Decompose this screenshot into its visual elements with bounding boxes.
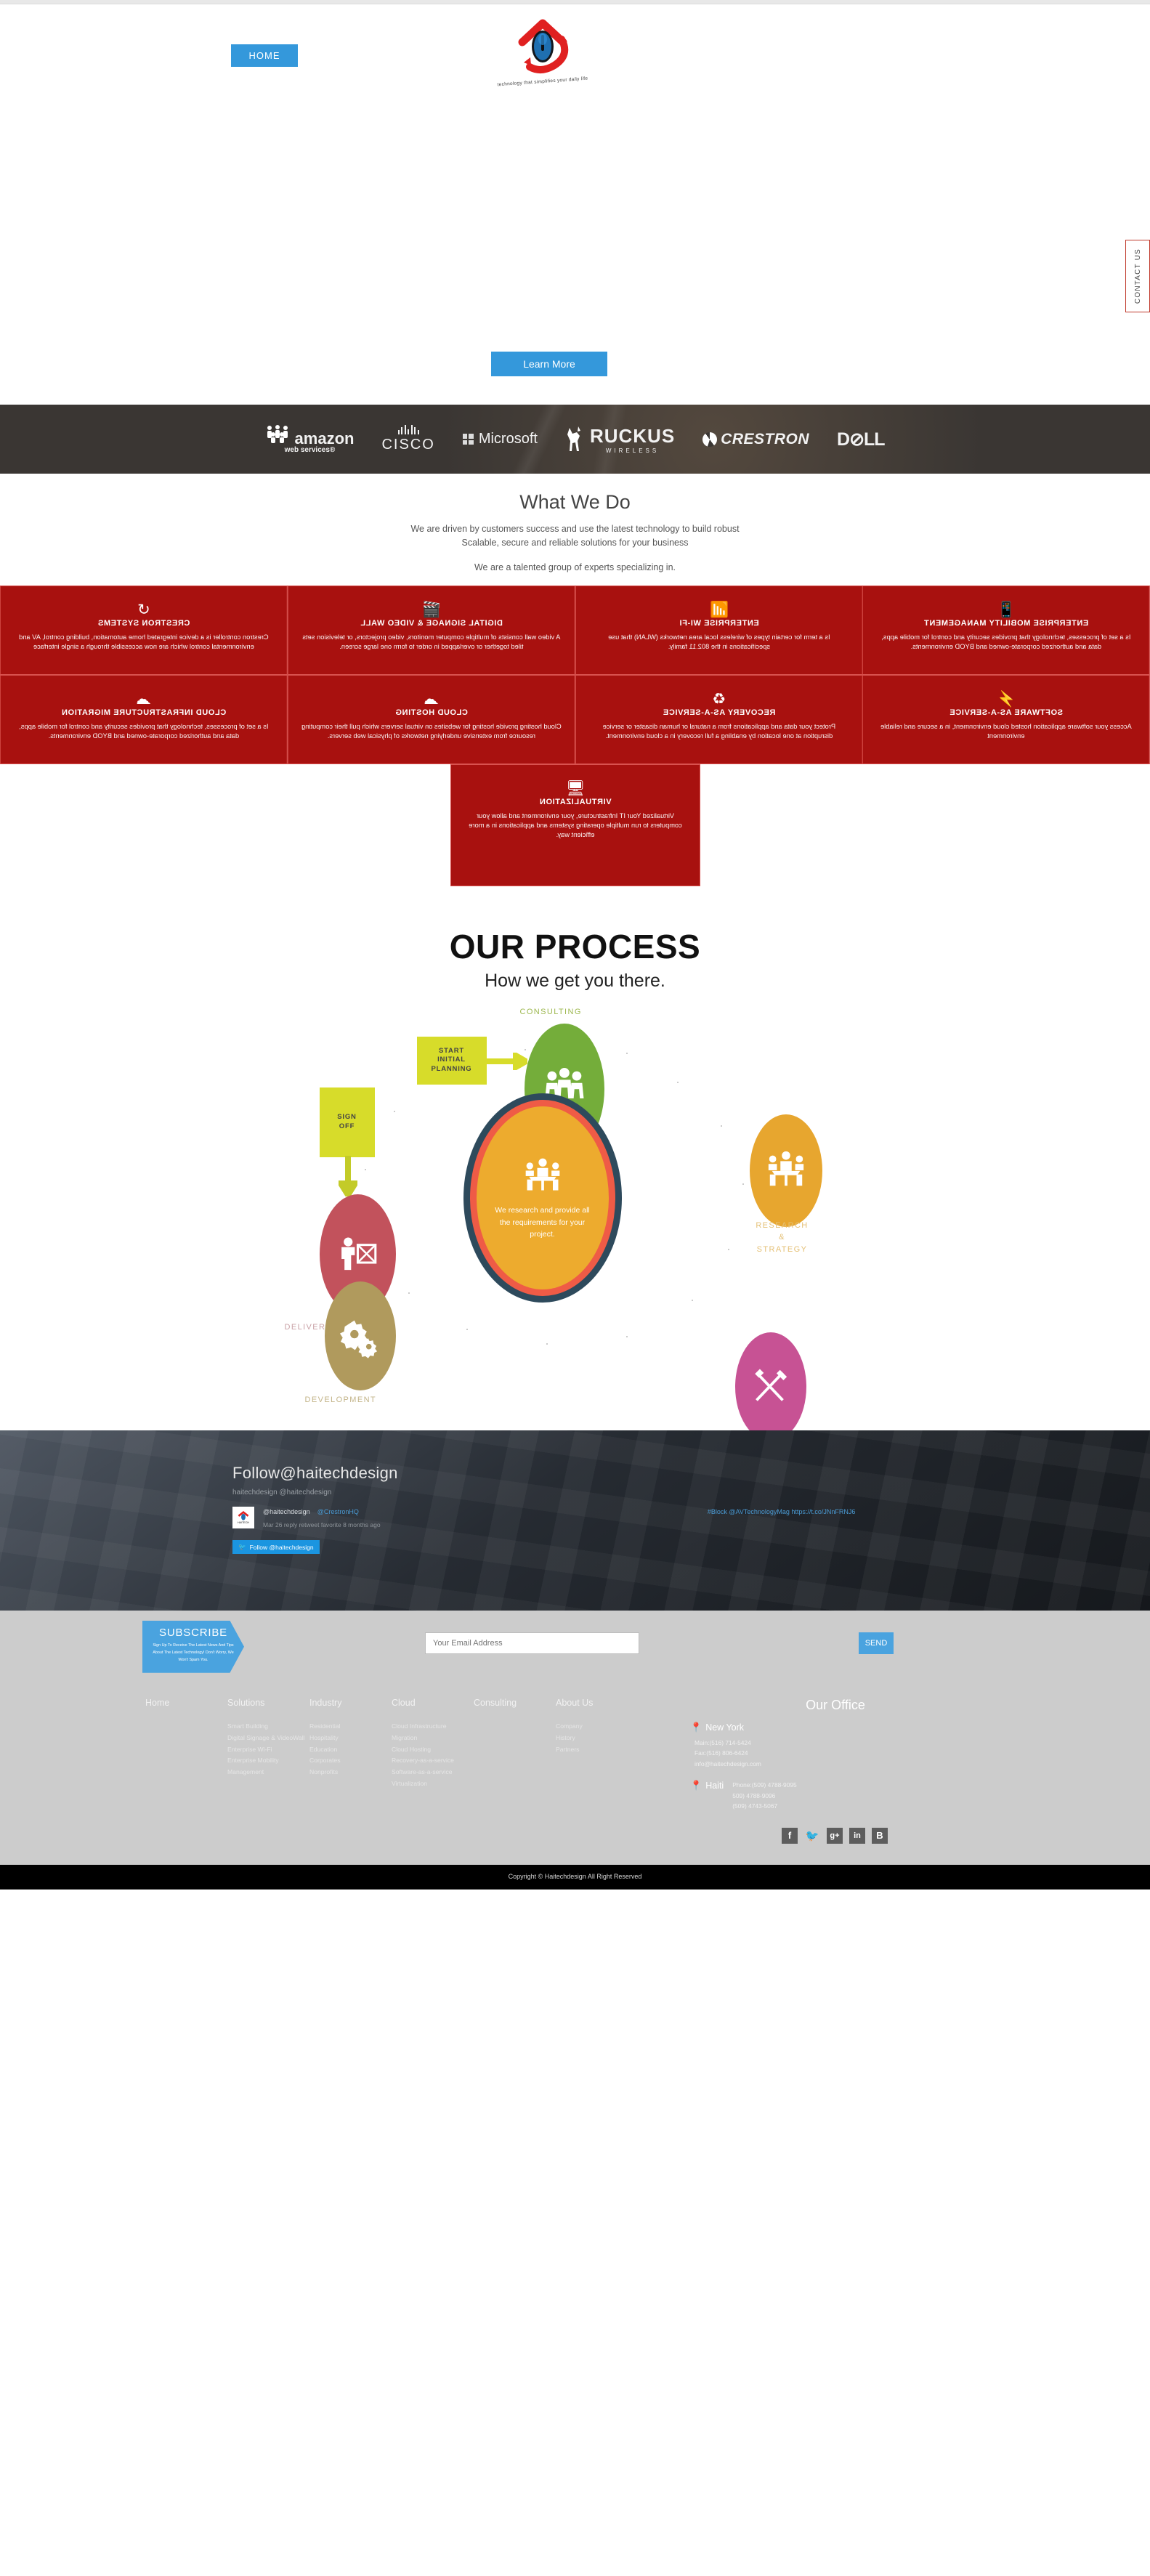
office-newyork: 📍 New York [690,1722,981,1733]
footer-link[interactable]: Hospitality [309,1733,392,1744]
ruckus-sub: WIRELESS [590,447,675,454]
footer-link[interactable]: Company [556,1721,638,1733]
map-pin-icon: 📍 [690,1722,702,1733]
footer-link[interactable]: Digital Signage & VideoWall [227,1733,309,1744]
footer-column-cloud: Cloud Cloud Infrastructure Migration Clo… [392,1698,474,1790]
service-desc: Virtualized Your IT Infrastructure, your… [463,811,688,841]
office-haiti: 📍 Haiti Phone:(509) 4788-9095 509) 4788-… [690,1780,981,1812]
services-row-3: 🖥 VIRTUALIZATION Virtualized Your IT Inf… [0,764,1150,886]
service-desc: Crestron controller is a device integrat… [12,633,275,652]
what-we-do-line2: Scalable, secure and reliable solutions … [0,536,1150,550]
process-subtitle: How we get you there. [0,971,1150,992]
service-title: ENTERPRISE MOBILITY MANAGEMENT [875,619,1138,629]
nav-home-button[interactable]: HOME [231,44,298,67]
cisco-name: CISCO [381,437,434,453]
tweet-item: HAITECH @haitechdesign @CrestronHQ #Bloc… [232,1507,1150,1531]
contact-us-label: CONTACT US [1134,248,1142,304]
partner-logo-crestron: CRESTRON [702,431,809,448]
learn-more-button[interactable]: Learn More [491,352,607,376]
learn-more-label: Learn More [523,358,575,370]
service-card-software-as-a-service[interactable]: ⚡ SOFTWARE AS-A-SERVICE Access your soft… [862,675,1150,764]
service-card-recovery-as-a-service[interactable]: ♻ RECOVERY AS-A-SERVICE Protect your dat… [575,675,863,764]
service-desc: Is a set of processes, technology that p… [12,722,275,741]
cisco-bars-icon [381,425,434,434]
facebook-icon[interactable]: f [782,1828,798,1844]
service-desc: Access your software application hosted … [875,722,1138,741]
footer-link[interactable]: Residential [309,1721,392,1733]
footer-link[interactable]: Enterprise Wi-Fi [227,1744,309,1756]
subscribe-banner: SUBSCRIBE Sign Up To Receive The Latest … [142,1621,244,1673]
footer-heading-about-us[interactable]: About Us [556,1698,638,1708]
partner-logo-cisco: CISCO [381,425,434,453]
tweet-mention[interactable]: @CrestronHQ [317,1508,359,1515]
partner-logo-dell: D⊘LL [837,429,885,450]
what-we-do-title: What We Do [0,491,1150,514]
arrow-to-delivery-icon [339,1156,357,1196]
refresh-icon: ↺ [12,602,275,617]
service-card-virtualization[interactable]: 🖥 VIRTUALIZATION Virtualized Your IT Inf… [450,764,700,886]
service-desc: Protect your data and applications from … [588,722,851,741]
wifi-icon: 📶 [588,602,851,617]
logo-tagline: technology that simplifies your daily li… [488,76,597,88]
tweet-link[interactable]: #Block @AVTechnologyMag https://t.co/JNn… [708,1507,856,1518]
cloud-upload-icon: ☁ [300,692,563,707]
footer-column-home: Home [145,1698,227,1790]
process-label-development: DEVELOPMENT [305,1394,377,1406]
service-title: CLOUD INFRASTRUCTURE MIGRATION [12,708,275,718]
service-desc: Cloud hosting provide hosting for websit… [300,722,563,741]
office-main-phone[interactable]: Main:(516) 714-5424 [695,1738,981,1749]
footer-column-solutions: Solutions Smart Building Digital Signage… [227,1698,309,1790]
arrow-to-consulting-icon [487,1053,527,1070]
office-phone-3[interactable]: (509) 4743-5067 [732,1801,796,1812]
office-phone-1[interactable]: Phone:(509) 4788-9095 [732,1780,796,1791]
footer-heading-solutions[interactable]: Solutions [227,1698,309,1708]
partner-logo-microsoft: Microsoft [463,431,538,447]
our-office-heading: Our Office [690,1698,981,1713]
service-card-enterprise-mobility[interactable]: 📱 ENTERPRISE MOBILITY MANAGEMENT Is a se… [862,586,1150,675]
process-label-consulting: CONSULTING [520,1006,582,1018]
process-diagram: CONSULTING START INITIAL PLANNING SIGN O… [285,1002,866,1380]
partners-bar: amazon web services® CISCO Microsoft Ruc… [0,405,1150,474]
process-label-research-strategy: RESEARCH & STRATEGY [735,1220,830,1256]
footer-link[interactable]: Software-as-a-service [392,1767,474,1778]
flag-label: SIGN OFF [337,1113,356,1132]
office-city-name: Haiti [705,1781,724,1791]
blogger-icon[interactable]: B [872,1828,888,1844]
footer-link[interactable]: Nonprofits [309,1767,392,1778]
service-card-enterprise-wifi[interactable]: 📶 ENTERPRISE WI-FI Is a term for certain… [575,586,863,675]
ruckus-dog-icon [565,425,586,454]
svg-text:HAITECH: HAITECH [238,1521,249,1524]
process-title: OUR PROCESS [0,927,1150,966]
service-title: SOFTWARE AS-A-SERVICE [875,708,1138,718]
delivery-person-icon [336,1219,380,1289]
hero-section: HOME technology that simplifies your dai… [0,4,1150,405]
haitech-avatar-icon: HAITECH [235,1510,251,1526]
recycle-icon: ♻ [588,692,851,707]
service-title: DIGITAL SIGNAGE & VIDEO WALL [300,619,563,629]
send-button[interactable]: SEND [859,1632,894,1654]
office-city-name: New York [705,1722,744,1733]
server-stack-icon: 🖥 [463,781,688,796]
broken-link-icon: ⚡ [875,692,1138,707]
twitter-handle-line: haitechdesign @haitechdesign [232,1489,1150,1496]
twitter-follow-label: Follow @haitechdesign [250,1544,314,1551]
footer-column-about-us: About Us Company History Partners [556,1698,638,1790]
process-node-development-visible[interactable] [325,1281,396,1390]
footer-link[interactable]: Enterprise Mobility Management [227,1755,309,1778]
social-links: f 🐦 g+ in B [782,1828,981,1844]
partner-logo-ruckus: Ruckus WIRELESS [565,425,675,454]
footer-heading-home[interactable]: Home [145,1698,227,1708]
aws-name: amazon [295,429,355,447]
process-center-node: We research and provide all the requirem… [470,1100,615,1296]
nav-home-label: HOME [249,50,280,61]
dell-name: D⊘LL [837,429,885,450]
process-center-text: We research and provide all the requirem… [493,1204,593,1240]
flag-start-initial-planning: START INITIAL PLANNING [417,1037,487,1085]
our-process-section: OUR PROCESS How we get you there. CONSUL… [0,886,1150,1430]
ruler-pencil-icon [750,1355,791,1418]
twitter-feed-section: Follow@haitechdesign haitechdesign @hait… [0,1430,1150,1611]
contact-us-tab[interactable]: CONTACT US [1125,240,1150,312]
microsoft-name: Microsoft [479,431,538,447]
footer-link[interactable]: Partners [556,1744,638,1756]
service-desc: Is a set of processes, technology that p… [875,633,1138,652]
service-card-cloud-infrastructure[interactable]: ☁ CLOUD INFRASTRUCTURE MIGRATION Is a se… [0,675,288,764]
crestron-name: CRESTRON [721,431,809,448]
linkedin-icon[interactable]: in [849,1828,865,1844]
footer-link[interactable]: Smart Building [227,1721,309,1733]
gears-icon [339,1304,381,1367]
email-input[interactable] [425,1632,639,1654]
center-meeting-icon [522,1155,563,1196]
footer-link[interactable]: Corporates [309,1755,392,1767]
mobile-phone-icon: 📱 [875,602,1138,617]
ruckus-name: Ruckus [590,425,675,447]
subscribe-title: SUBSCRIBE [150,1627,237,1639]
service-title: CRESTRON SYSTEMS [12,619,275,629]
cloud-icon: ☁ [12,692,275,707]
google-plus-icon[interactable]: g+ [827,1828,843,1844]
haitech-house-logo-icon [509,17,576,74]
what-we-do-section: What We Do We are driven by customers su… [0,474,1150,586]
footer-heading-consulting[interactable]: Consulting [474,1698,556,1708]
site-logo[interactable]: technology that simplifies your daily li… [488,17,597,97]
what-we-do-line1: We are driven by customers success and u… [0,522,1150,536]
footer-link[interactable]: History [556,1733,638,1744]
service-card-cloud-hosting[interactable]: ☁ CLOUD HOSTING Cloud hosting provide ho… [288,675,575,764]
twitter-follow-button[interactable]: 🐦 Follow @haitechdesign [232,1540,320,1554]
footer-heading-industry[interactable]: Industry [309,1698,392,1708]
service-card-digital-signage[interactable]: 🎬 DIGITAL SIGNAGE & VIDEO WALL A video w… [288,586,575,675]
aws-sub: web services® [265,447,354,454]
footer-link[interactable]: Education [309,1744,392,1756]
crestron-swirl-icon [702,432,717,447]
footer-link[interactable]: Cloud Infrastructure Migration [392,1721,474,1744]
twitter-avatar: HAITECH [232,1507,254,1528]
twitter-bird-icon: 🐦 [238,1543,246,1551]
subscribe-blurb: Sign Up To Receive The Latest News And T… [150,1642,237,1664]
footer-link[interactable]: Virtualization [392,1778,474,1790]
aws-people-icon [265,425,290,444]
partner-logo-aws: amazon web services® [265,425,354,454]
service-title: VIRTUALIZATION [463,798,688,808]
footer-link[interactable]: Cloud Hosting [392,1744,474,1756]
office-fax: Fax:(516) 806-6424 [695,1748,981,1759]
map-pin-icon: 📍 [690,1780,702,1791]
process-node-research-strategy[interactable] [750,1114,822,1227]
office-phone-2[interactable]: 509) 4788-9096 [732,1791,796,1802]
twitter-icon[interactable]: 🐦 [804,1828,820,1844]
our-office-block: Our Office 📍 New York Main:(516) 714-542… [690,1698,981,1844]
footer-section: Home Solutions Smart Building Digital Si… [0,1683,1150,1865]
twitter-title: Follow@haitechdesign [232,1464,1150,1483]
process-node-design[interactable] [735,1332,806,1441]
footer-heading-cloud[interactable]: Cloud [392,1698,474,1708]
services-grid: ↺ CRESTRON SYSTEMS Crestron controller i… [0,586,1150,886]
meeting-table-icon [765,1138,807,1203]
services-row-1: ↺ CRESTRON SYSTEMS Crestron controller i… [0,586,1150,675]
flag-sign-off: SIGN OFF [320,1087,375,1157]
subscribe-section: SUBSCRIBE Sign Up To Receive The Latest … [0,1611,1150,1683]
flag-label: START INITIAL PLANNING [431,1047,471,1074]
tweet-author[interactable]: @haitechdesign [263,1508,310,1515]
service-title: CLOUD HOSTING [300,708,563,718]
services-row-2: ☁ CLOUD INFRASTRUCTURE MIGRATION Is a se… [0,675,1150,764]
service-title: ENTERPRISE WI-FI [588,619,851,629]
office-email[interactable]: info@haitechdesign.com [695,1759,981,1770]
what-we-do-line3: We are a talented group of experts speci… [0,562,1150,572]
copyright-bar: Copyright © Haitechdesign All Right Rese… [0,1865,1150,1890]
service-card-crestron-systems[interactable]: ↺ CRESTRON SYSTEMS Crestron controller i… [0,586,288,675]
footer-link[interactable]: Recovery-as-a-service [392,1755,474,1767]
video-file-icon: 🎬 [300,602,563,617]
tweet-meta: Mar 26 reply retweet favorite 8 months a… [263,1520,855,1530]
footer-column-consulting: Consulting [474,1698,556,1790]
footer-column-industry: Industry Residential Hospitality Educati… [309,1698,392,1790]
service-desc: A video wall consists of multiple comput… [300,633,563,652]
microsoft-squares-icon [463,434,474,445]
service-title: RECOVERY AS-A-SERVICE [588,708,851,718]
service-desc: Is a term for certain types of wireless … [588,633,851,652]
